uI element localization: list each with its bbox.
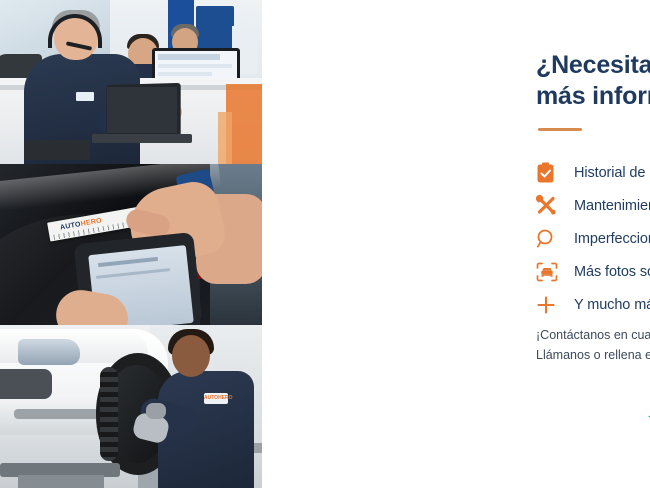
feature-item-more: Y mucho más (536, 288, 650, 321)
feature-label: Imperfecciones (574, 231, 650, 247)
feature-label: Mantenimiento realizado (574, 198, 650, 214)
car-inspection-ruler-photo: AUTOHERO (0, 164, 262, 325)
car-scan-icon (536, 262, 574, 282)
laptop-screen (107, 87, 177, 133)
uniform-logo-text: AUTOHERO (204, 393, 228, 404)
mechanic-glove-fingers (146, 403, 166, 419)
monitor-screen-row (158, 64, 232, 68)
page-title: ¿Necesitas más información? (536, 50, 650, 111)
title-divider (538, 128, 582, 131)
monitor-screen-row-two (158, 72, 212, 76)
headline-line-two: más información? (536, 81, 650, 112)
call-center-agents-photo (0, 0, 262, 164)
photo-strip: AUTOHERO (0, 0, 262, 488)
mechanic-head (172, 335, 210, 377)
car-lift-base (18, 475, 104, 488)
feature-item-more-photos: Más fotos sobre el coche (536, 255, 650, 288)
content-panel: ¿Necesitas más información? Estamos enca… (262, 0, 650, 488)
clipboard-check-icon (536, 162, 574, 184)
info-banner: AUTOHERO (0, 0, 650, 488)
desk-tablet (24, 140, 90, 160)
feature-item-imperfections: Imperfecciones (536, 222, 650, 255)
feature-label: Más fotos sobre el coche (574, 264, 650, 280)
feature-item-maintenance-done: Mantenimiento realizado (536, 189, 650, 222)
paragraph-line-one: ¡Contáctanos en cualquier momento para m… (536, 325, 650, 345)
feature-list: Historial de mantenimientos Mantenimient… (536, 156, 650, 321)
laptop-keyboard (92, 134, 192, 143)
headline-line-one: ¿Necesitas (536, 50, 650, 81)
tyre-tread (100, 367, 118, 461)
plus-icon (536, 295, 574, 315)
car-headlight (18, 339, 80, 365)
feature-item-maintenance-history: Historial de mantenimientos (536, 156, 650, 189)
orange-equipment-secondary (218, 112, 232, 164)
contact-paragraph: ¡Contáctanos en cualquier momento para m… (536, 325, 650, 366)
feature-label: Historial de mantenimientos (574, 165, 650, 181)
agent-one-name-badge (76, 92, 94, 101)
magnifier-icon (536, 229, 574, 249)
car-grille (0, 369, 52, 399)
tools-icon (536, 195, 574, 216)
monitor-screen-bar (158, 54, 220, 60)
feature-label: Y mucho más (574, 297, 650, 313)
mechanic-wheel-inspection-photo: AUTOHERO (0, 325, 262, 488)
mechanic-uniform-logo: AUTOHERO (204, 393, 228, 404)
paragraph-line-two: Llámanos o rellena el formulario de cont… (536, 345, 650, 365)
